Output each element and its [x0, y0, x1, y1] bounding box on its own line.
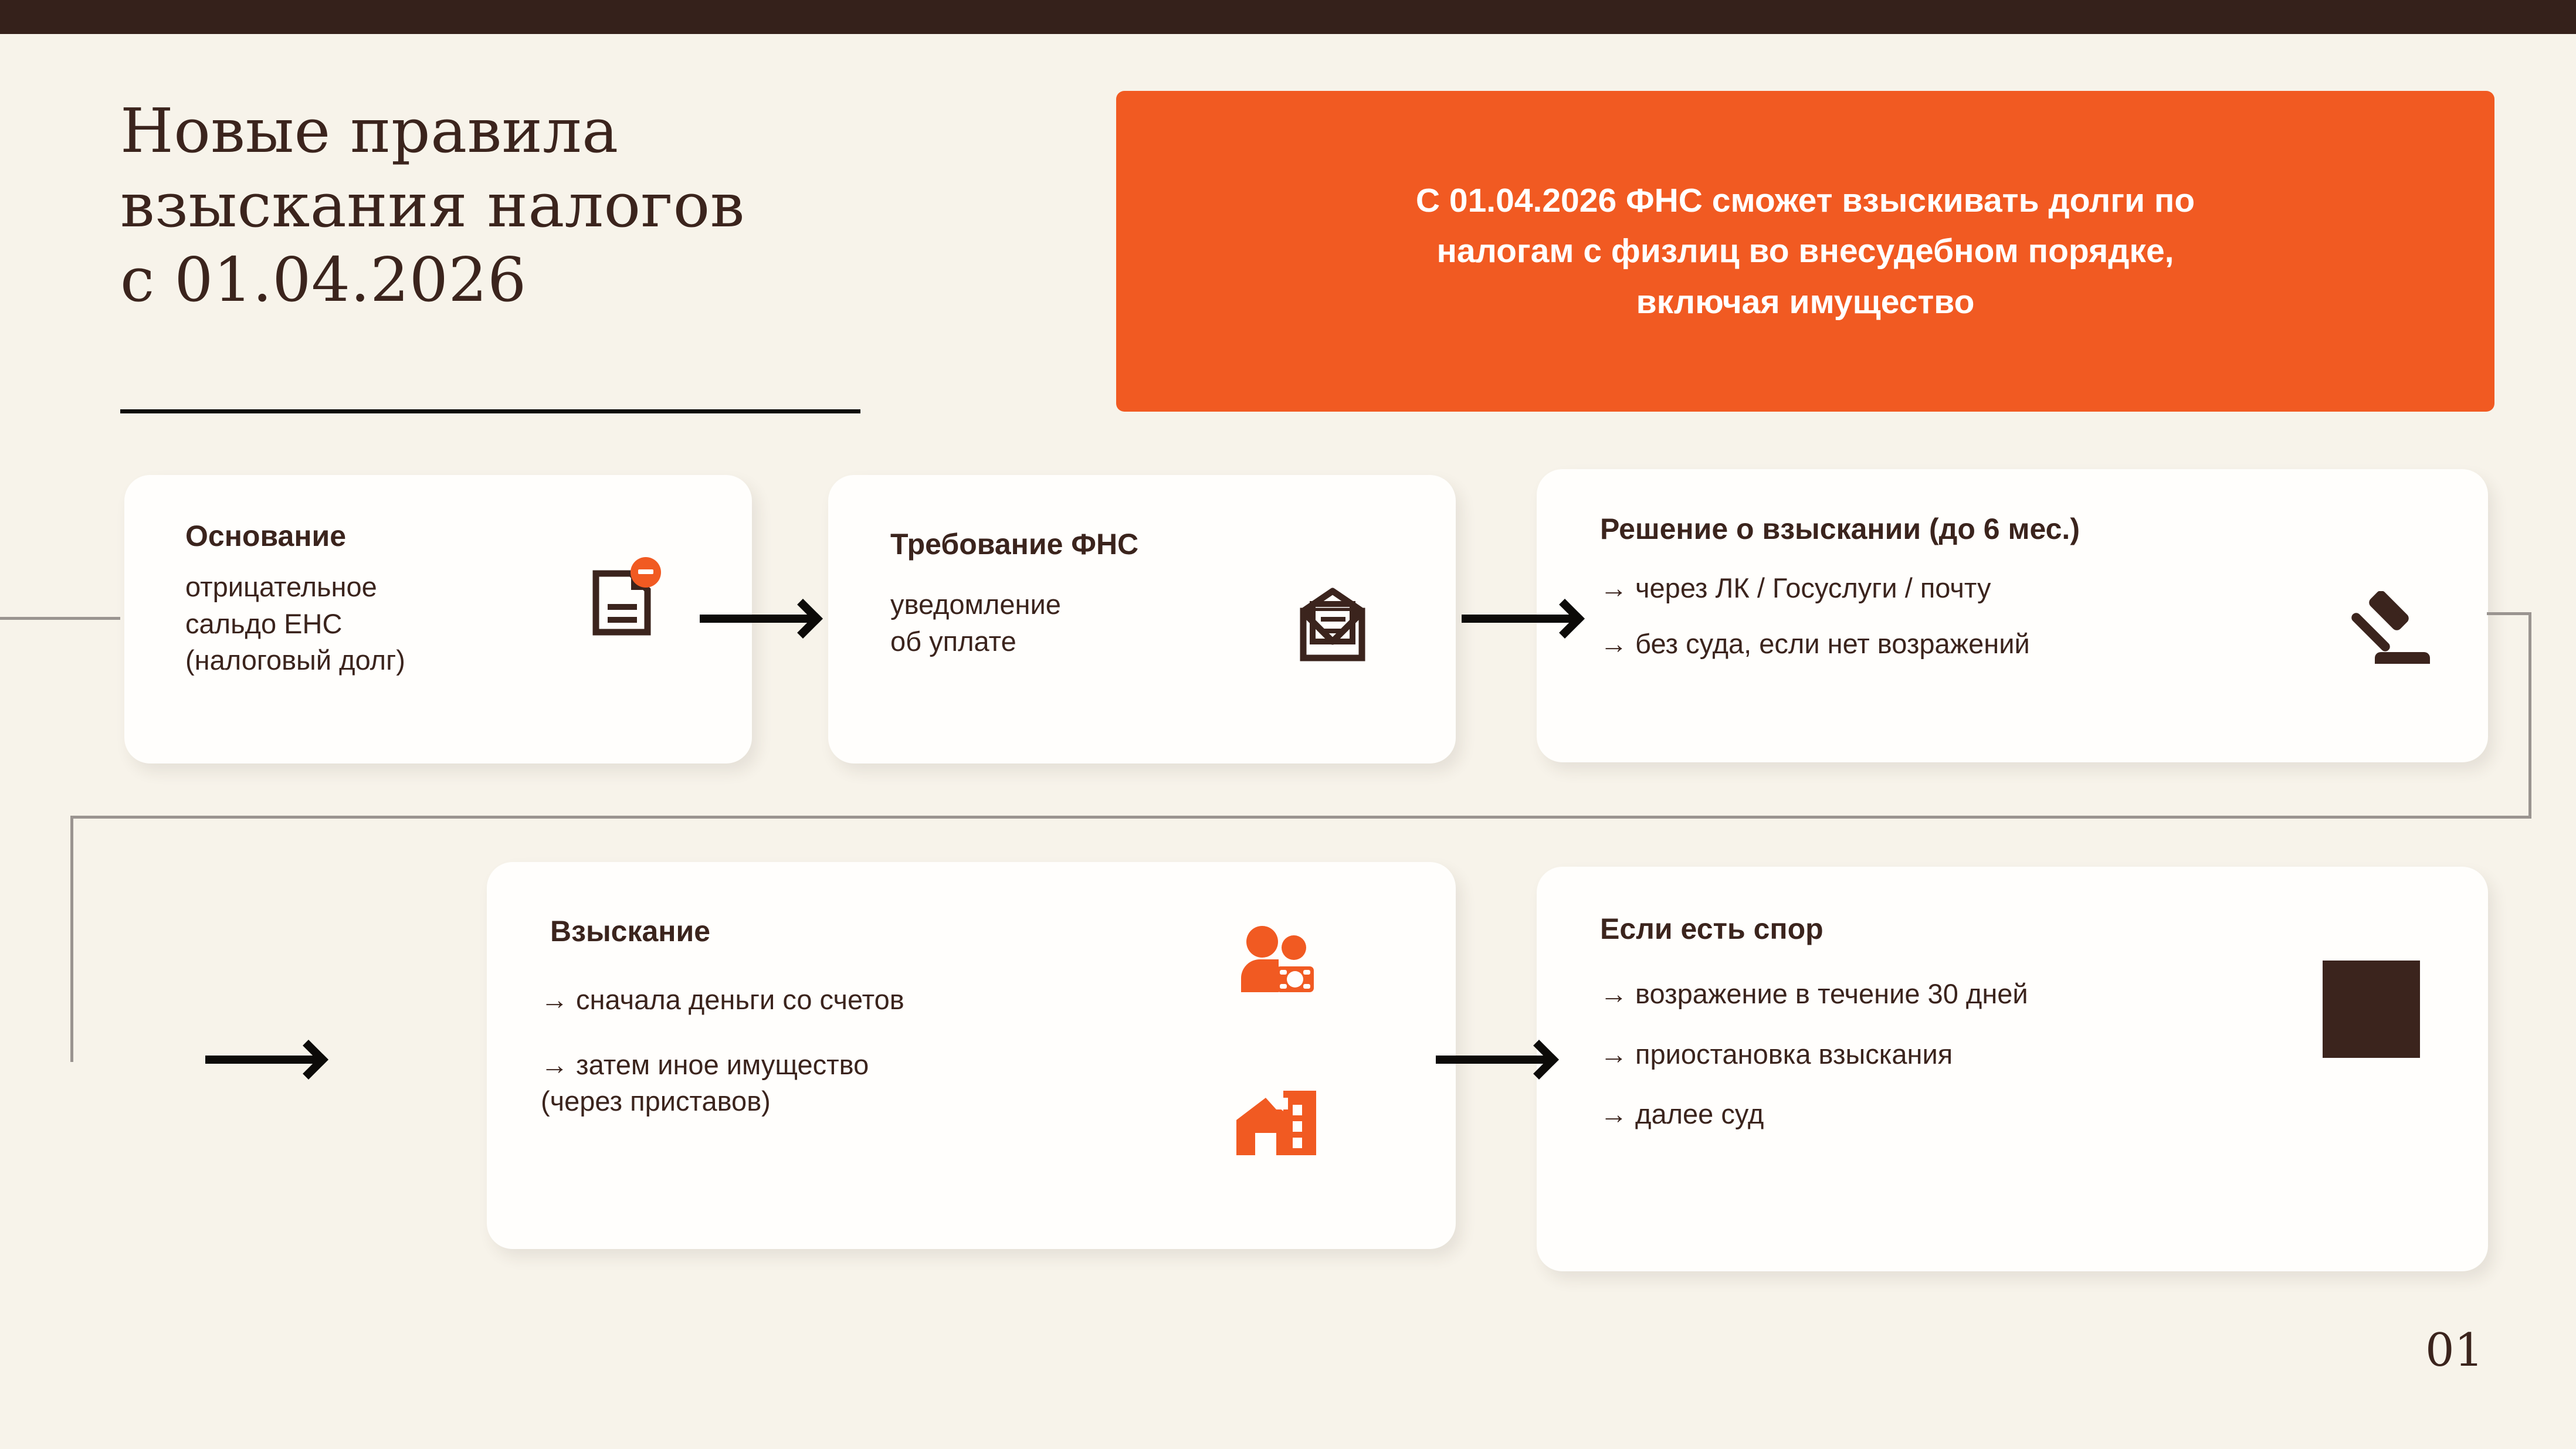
card-spor-title: Если есть спор [1600, 911, 2488, 946]
title-block: Новые правила взыскания налогов с 01.04.… [120, 94, 894, 317]
card-vzyskanie-body: Взыскание → сначала деньги со счетов → з… [487, 862, 1456, 1249]
card-spor-body: Если есть спор → возражение в течение 30… [1537, 867, 2488, 1271]
highlight-banner: С 01.04.2026 ФНС сможет взыскивать долги… [1116, 91, 2494, 412]
card-spor[interactable]: Если есть спор → возражение в течение 30… [1537, 867, 2488, 1271]
connector-left-stub [0, 617, 120, 620]
card-reshenie-title: Решение о взыскании (до 6 мес.) [1600, 511, 2488, 547]
connector-left-vertical [70, 816, 73, 1062]
card-reshenie[interactable]: Решение о взыскании (до 6 мес.) → через … [1537, 469, 2488, 762]
card-spor-line-3: → далее суд [1600, 1096, 2488, 1133]
page-title: Новые правила взыскания налогов с 01.04.… [120, 94, 894, 317]
gavel-icon [2343, 591, 2431, 676]
open-envelope-icon [1292, 588, 1374, 667]
card-osnovanie-body: Основание отрицательное сальдо ЕНС (нало… [124, 475, 752, 763]
title-underline-rule [120, 409, 860, 413]
card-osnovanie-line-1: отрицательное сальдо ЕНС (налоговый долг… [185, 569, 752, 679]
solid-square-icon [2323, 961, 2420, 1061]
slide-canvas: Новые правила взыскания налогов с 01.04.… [0, 0, 2576, 1449]
connector-bottom-horizontal [70, 816, 2531, 819]
arrow-vzyskanie-to-spor [1436, 1056, 1551, 1064]
card-osnovanie[interactable]: Основание отрицательное сальдо ЕНС (нало… [124, 475, 752, 763]
arrow-osnovanie-to-trebovanie [700, 615, 815, 623]
card-reshenie-body: Решение о взыскании (до 6 мес.) → через … [1537, 469, 2488, 762]
card-osnovanie-title: Основание [185, 518, 752, 554]
page-number: 01 [2425, 1324, 2483, 1377]
card-trebovanie-title: Требование ФНС [890, 527, 1456, 562]
house-building-icon [1232, 1085, 1320, 1164]
top-accent-bar [0, 0, 2576, 34]
connector-right-horizontal [2487, 612, 2531, 615]
card-vzyskanie[interactable]: Взыскание → сначала деньги со счетов → з… [487, 862, 1456, 1249]
connector-right-vertical [2528, 612, 2531, 819]
arrow-into-vzyskanie [205, 1056, 320, 1064]
arrow-trebovanie-to-reshenie [1462, 615, 1577, 623]
document-minus-icon [585, 557, 662, 642]
card-trebovanie[interactable]: Требование ФНС уведомление об уплате [828, 475, 1456, 763]
highlight-banner-text: С 01.04.2026 ФНС сможет взыскивать долги… [1254, 175, 2357, 328]
card-trebovanie-body: Требование ФНС уведомление об уплате [828, 475, 1456, 763]
people-money-icon [1238, 921, 1320, 1000]
